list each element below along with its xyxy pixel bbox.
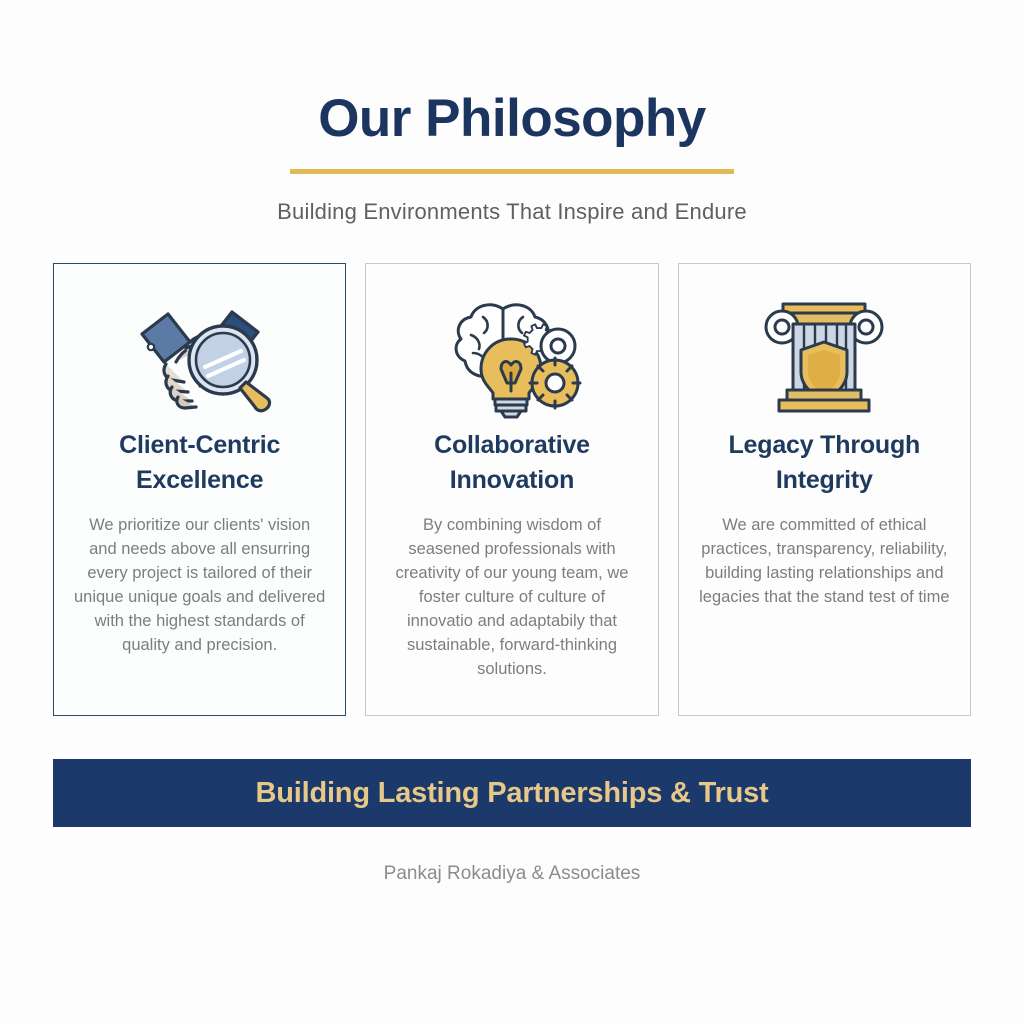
card-title: Legacy Through Integrity <box>704 428 944 497</box>
philosophy-card-legacy-integrity[interactable]: Legacy Through Integrity We are committe… <box>678 263 971 716</box>
card-body: By combining wisdom of seasened professi… <box>386 513 638 682</box>
card-title: Collaborative Innovation <box>392 428 632 497</box>
banner-text: Building Lasting Partnerships & Trust <box>255 777 768 810</box>
pillar-shield-icon <box>757 292 891 422</box>
card-body: We are committed of ethical practices, t… <box>698 513 950 609</box>
page-title: Our Philosophy <box>0 92 1024 145</box>
page-subtitle: Building Environments That Inspire and E… <box>0 199 1024 225</box>
philosophy-card-collaborative-innovation[interactable]: Collaborative Innovation By combining wi… <box>365 263 658 716</box>
brain-lightbulb-gears-icon <box>439 292 585 422</box>
handshake-magnifier-icon <box>120 292 280 422</box>
attribution-text: Pankaj Rokadiya & Associates <box>0 863 1024 885</box>
philosophy-page: Our Philosophy Building Environments Tha… <box>0 0 1024 1024</box>
philosophy-card-client-centric[interactable]: Client-Centric Excellence We prioritize … <box>53 263 346 716</box>
page-header: Our Philosophy Building Environments Tha… <box>0 92 1024 225</box>
trust-banner: Building Lasting Partnerships & Trust <box>53 759 971 827</box>
card-body: We prioritize our clients' vision and ne… <box>74 513 326 657</box>
title-accent-rule <box>290 169 734 174</box>
philosophy-card-list: Client-Centric Excellence We prioritize … <box>0 263 1024 716</box>
card-title: Client-Centric Excellence <box>80 428 320 497</box>
